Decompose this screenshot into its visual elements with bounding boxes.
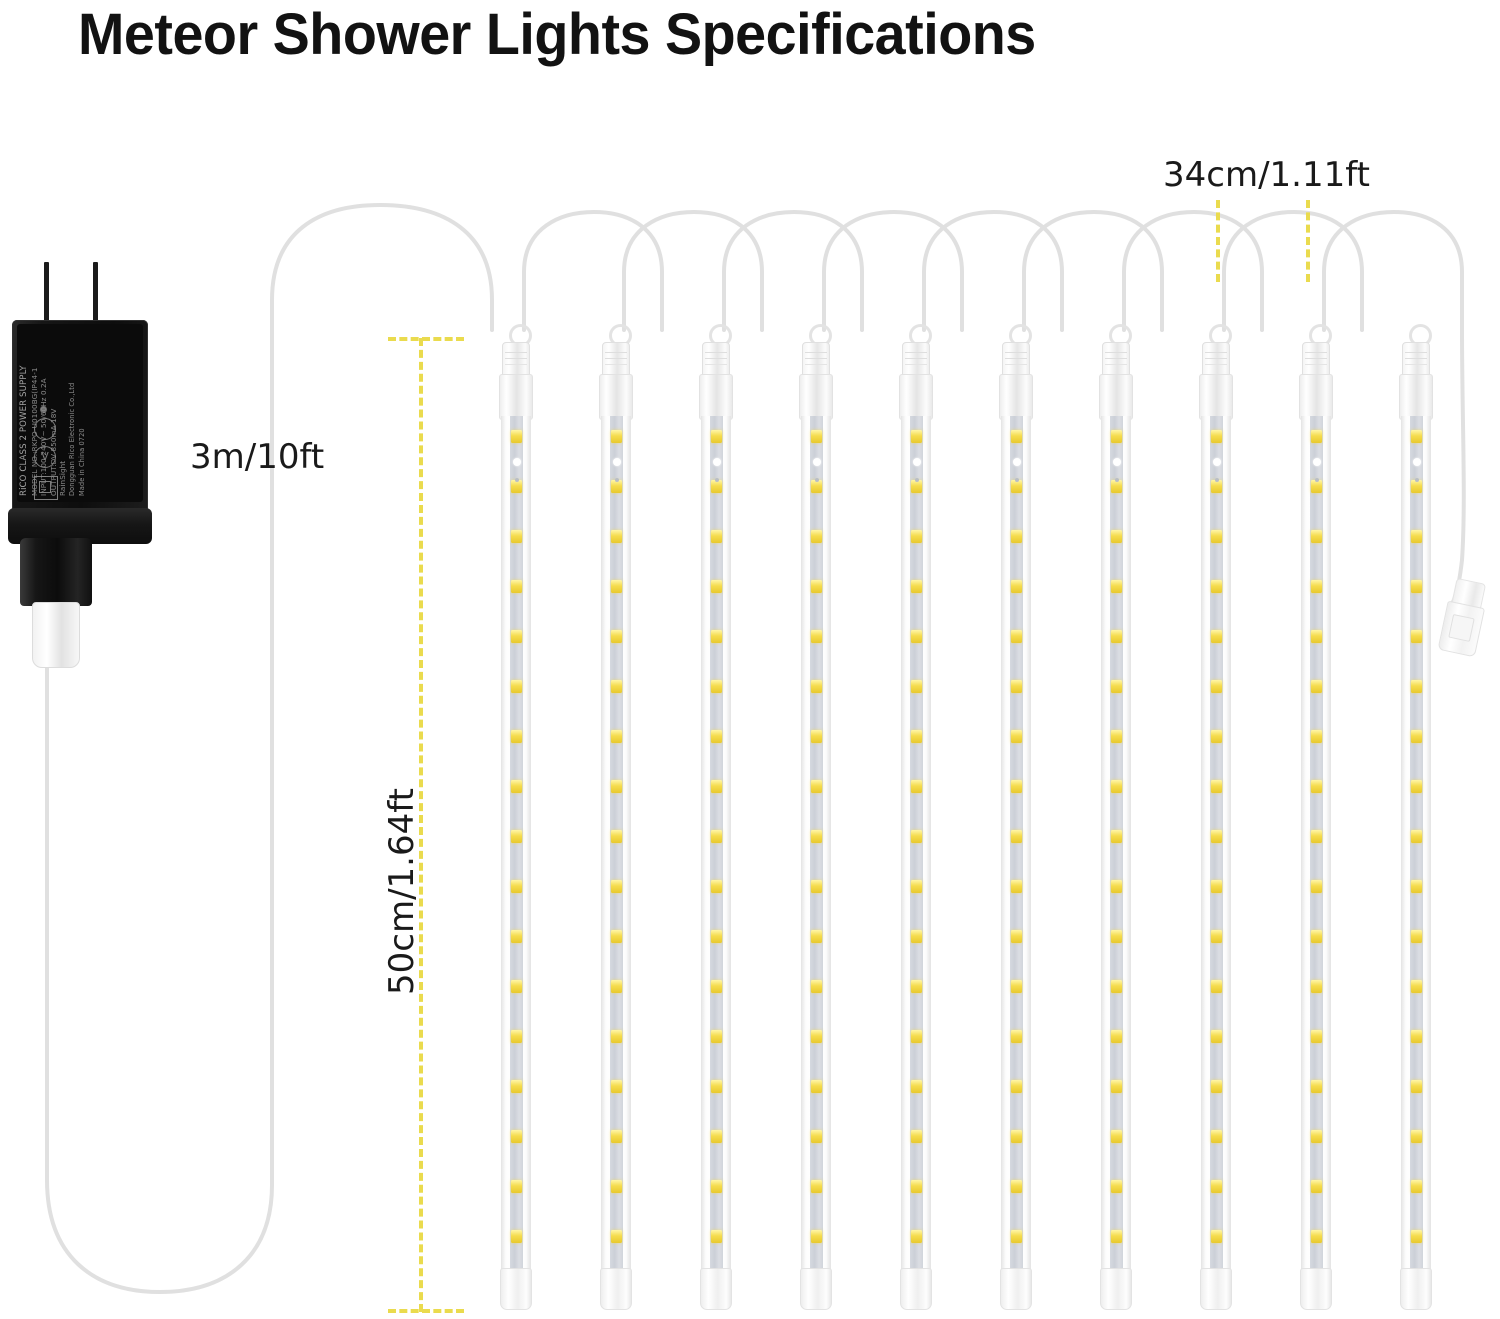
- led-dim-dot: [1015, 478, 1019, 482]
- tube-collar: [702, 342, 730, 378]
- adapter-housing: V ☒ UL LISTED 6497P1L LED Class RiCO CLA…: [12, 320, 148, 512]
- led-chip: [1011, 630, 1022, 643]
- led-chip: [1011, 880, 1022, 893]
- led-chip: [811, 680, 822, 693]
- led-chip: [1311, 1080, 1322, 1093]
- wiring-diagram: [0, 0, 1500, 1319]
- led-chip: [711, 580, 722, 593]
- led-chip: [611, 980, 622, 993]
- led-chip: [1411, 580, 1422, 593]
- tube-neck: [799, 374, 833, 420]
- led-chip: [1111, 980, 1122, 993]
- led-chip: [511, 830, 522, 843]
- tube-collar: [602, 342, 630, 378]
- led-chip: [1011, 1130, 1022, 1143]
- tube-collar: [802, 342, 830, 378]
- led-chip: [1311, 1030, 1322, 1043]
- led-chip: [1211, 730, 1222, 743]
- led-chip: [611, 1130, 622, 1143]
- led-strip-pcb: [710, 416, 723, 1272]
- tube-end-cap: [700, 1268, 732, 1310]
- adapter-manufacturer: Dongguan Rico Electronic Co.,Ltd: [68, 320, 78, 496]
- led-chip: [911, 930, 922, 943]
- led-chip: [511, 730, 522, 743]
- adapter-barrel-connector: [20, 538, 92, 606]
- led-chip: [811, 1080, 822, 1093]
- tube-neck: [1199, 374, 1233, 420]
- adapter-output: OUTPUT:DV 850mA 18V: [49, 320, 59, 496]
- led-chip: [911, 1130, 922, 1143]
- led-chip: [511, 1130, 522, 1143]
- wire-tail: [1452, 330, 1464, 604]
- tube-end-cap: [1000, 1268, 1032, 1310]
- tube-end-cap: [800, 1268, 832, 1310]
- led-strip-pcb: [1210, 416, 1223, 1272]
- led-chip: [911, 1080, 922, 1093]
- led-dim-dot: [715, 478, 719, 482]
- led-chip: [511, 630, 522, 643]
- led-chip: [811, 580, 822, 593]
- tube-end-cap: [1300, 1268, 1332, 1310]
- led-chip: [711, 980, 722, 993]
- led-highlight: [913, 458, 921, 466]
- led-chip: [511, 530, 522, 543]
- led-chip: [1411, 1180, 1422, 1193]
- led-chip: [1111, 430, 1122, 443]
- led-chip: [811, 780, 822, 793]
- led-chip: [1211, 1080, 1222, 1093]
- led-chip: [1411, 980, 1422, 993]
- led-chip: [1311, 980, 1322, 993]
- led-chip: [611, 730, 622, 743]
- led-chip: [911, 1180, 922, 1193]
- led-chip: [1211, 630, 1222, 643]
- led-chip: [711, 680, 722, 693]
- led-highlight: [813, 458, 821, 466]
- led-chip: [811, 930, 822, 943]
- led-dim-dot: [1415, 478, 1419, 482]
- led-chip: [811, 630, 822, 643]
- tube-end-cap: [900, 1268, 932, 1310]
- led-chip: [1411, 1130, 1422, 1143]
- led-chip: [911, 1230, 922, 1243]
- led-chip: [1211, 980, 1222, 993]
- led-chip: [711, 530, 722, 543]
- led-chip: [811, 430, 822, 443]
- led-strip-pcb: [1310, 416, 1323, 1272]
- adapter-brand-line: RiCO CLASS 2 POWER SUPPLY: [20, 320, 30, 496]
- led-tube: [898, 340, 932, 1312]
- led-chip: [611, 1180, 622, 1193]
- tube-collar: [1002, 342, 1030, 378]
- led-chip: [511, 1030, 522, 1043]
- tube-neck: [999, 374, 1033, 420]
- tube-end-cap: [1400, 1268, 1432, 1310]
- led-chip: [1311, 630, 1322, 643]
- led-chip: [1411, 1230, 1422, 1243]
- led-chip: [1011, 580, 1022, 593]
- led-dim-dot: [1315, 478, 1319, 482]
- led-chip: [511, 780, 522, 793]
- led-chip: [1111, 1230, 1122, 1243]
- led-chip: [1311, 530, 1322, 543]
- led-strip-pcb: [1010, 416, 1023, 1272]
- tube-body: [1201, 416, 1231, 1272]
- led-chip: [1111, 630, 1122, 643]
- plug-prong-icon: [44, 262, 49, 324]
- led-chip: [1211, 680, 1222, 693]
- led-tube: [598, 340, 632, 1312]
- led-chip: [711, 930, 722, 943]
- led-chip: [811, 1130, 822, 1143]
- led-chip: [1411, 730, 1422, 743]
- specification-image: Meteor Shower Lights Specifications 3m/1…: [0, 0, 1500, 1319]
- tube-body: [501, 416, 531, 1272]
- led-chip: [1211, 580, 1222, 593]
- led-highlight: [1213, 458, 1221, 466]
- led-chip: [511, 430, 522, 443]
- led-highlight: [613, 458, 621, 466]
- led-dim-dot: [1215, 478, 1219, 482]
- led-strip-pcb: [1410, 416, 1423, 1272]
- led-chip: [1311, 1230, 1322, 1243]
- led-chip: [511, 680, 522, 693]
- led-chip: [1211, 930, 1222, 943]
- led-chip: [611, 580, 622, 593]
- led-chip: [511, 880, 522, 893]
- led-chip: [611, 780, 622, 793]
- tube-end-cap: [1100, 1268, 1132, 1310]
- led-chip: [611, 1230, 622, 1243]
- led-chip: [1011, 780, 1022, 793]
- led-chip: [811, 880, 822, 893]
- led-chip: [1211, 830, 1222, 843]
- led-tube: [1398, 340, 1432, 1312]
- led-chip: [911, 1030, 922, 1043]
- led-chip: [711, 880, 722, 893]
- led-chip: [1111, 830, 1122, 843]
- led-chip: [711, 1130, 722, 1143]
- led-tube: [1198, 340, 1232, 1312]
- led-tube: [798, 340, 832, 1312]
- cord-length-label: 3m/10ft: [190, 437, 324, 477]
- tube-end-cap: [600, 1268, 632, 1310]
- led-chip: [1411, 430, 1422, 443]
- tube-collar: [902, 342, 930, 378]
- spacing-guide-left: [1216, 200, 1220, 282]
- tube-body: [601, 416, 631, 1272]
- led-chip: [511, 930, 522, 943]
- tube-body: [901, 416, 931, 1272]
- led-chip: [1111, 780, 1122, 793]
- tube-spacing-label: 34cm/1.11ft: [1163, 155, 1370, 195]
- tube-end-cap: [1200, 1268, 1232, 1310]
- led-chip: [1411, 830, 1422, 843]
- led-dim-dot: [515, 478, 519, 482]
- led-chip: [811, 1030, 822, 1043]
- led-chip: [711, 1230, 722, 1243]
- led-chip: [1411, 680, 1422, 693]
- led-chip: [1111, 730, 1122, 743]
- led-dim-dot: [915, 478, 919, 482]
- led-chip: [1311, 1130, 1322, 1143]
- adapter-class: CLASS 2 POWER SUPPLY: [19, 365, 29, 471]
- led-chip: [811, 830, 822, 843]
- tube-body: [1001, 416, 1031, 1272]
- led-chip: [1011, 980, 1022, 993]
- led-dim-dot: [815, 478, 819, 482]
- led-chip: [911, 430, 922, 443]
- led-strip-pcb: [510, 416, 523, 1272]
- led-chip: [1211, 1230, 1222, 1243]
- led-chip: [1011, 1030, 1022, 1043]
- led-tube: [698, 340, 732, 1312]
- led-chip: [1211, 530, 1222, 543]
- led-chip: [711, 830, 722, 843]
- led-chip: [611, 1080, 622, 1093]
- led-chip: [1111, 530, 1122, 543]
- tube-length-guide-tick-top: [388, 337, 464, 341]
- led-chip: [611, 1030, 622, 1043]
- led-chip: [1311, 1180, 1322, 1193]
- led-chip: [1011, 1080, 1022, 1093]
- led-chip: [611, 680, 622, 693]
- tube-body: [1401, 416, 1431, 1272]
- led-chip: [1411, 780, 1422, 793]
- led-chip: [1311, 430, 1322, 443]
- led-chip: [1311, 730, 1322, 743]
- led-highlight: [513, 458, 521, 466]
- led-chip: [1111, 880, 1122, 893]
- tube-body: [1301, 416, 1331, 1272]
- tube-length-label: 50cm/1.64ft: [382, 788, 422, 995]
- tube-collar: [1202, 342, 1230, 378]
- led-chip: [1011, 430, 1022, 443]
- led-chip: [1211, 1030, 1222, 1043]
- led-chip: [1311, 830, 1322, 843]
- adapter-output-plug: [32, 602, 80, 668]
- led-chip: [911, 630, 922, 643]
- tube-collar: [1102, 342, 1130, 378]
- led-highlight: [1313, 458, 1321, 466]
- led-chip: [1411, 930, 1422, 943]
- led-chip: [1411, 630, 1422, 643]
- led-strip-pcb: [1110, 416, 1123, 1272]
- led-chip: [911, 780, 922, 793]
- led-chip: [611, 530, 622, 543]
- led-chip: [1211, 1180, 1222, 1193]
- led-tube: [1098, 340, 1132, 1312]
- led-chip: [711, 1030, 722, 1043]
- adapter-brand: RiCO: [19, 474, 29, 496]
- led-chip: [711, 1080, 722, 1093]
- led-chip: [911, 880, 922, 893]
- led-chip: [911, 580, 922, 593]
- led-chip: [1311, 580, 1322, 593]
- led-chip: [711, 1180, 722, 1193]
- led-chip: [911, 980, 922, 993]
- led-chip: [711, 430, 722, 443]
- tube-body: [801, 416, 831, 1272]
- tube-collar: [1302, 342, 1330, 378]
- led-highlight: [713, 458, 721, 466]
- led-chip: [711, 780, 722, 793]
- led-chip: [911, 530, 922, 543]
- led-highlight: [1413, 458, 1421, 466]
- led-chip: [611, 630, 622, 643]
- led-chip: [1111, 1080, 1122, 1093]
- led-chip: [1411, 1030, 1422, 1043]
- led-tube: [498, 340, 532, 1312]
- tube-body: [1101, 416, 1131, 1272]
- led-chip: [511, 580, 522, 593]
- led-dim-dot: [615, 478, 619, 482]
- led-strip-pcb: [810, 416, 823, 1272]
- tube-collar: [502, 342, 530, 378]
- led-chip: [1011, 930, 1022, 943]
- tube-neck: [1299, 374, 1333, 420]
- tube-neck: [1099, 374, 1133, 420]
- led-chip: [1011, 1230, 1022, 1243]
- led-chip: [1011, 530, 1022, 543]
- led-chip: [1211, 430, 1222, 443]
- led-chip: [611, 880, 622, 893]
- adapter-label-text: RiCO CLASS 2 POWER SUPPLY MODEL NO.:RKPO…: [20, 320, 146, 496]
- led-chip: [811, 530, 822, 543]
- tube-neck: [1399, 374, 1433, 420]
- led-chip: [1111, 1180, 1122, 1193]
- led-chip: [1211, 780, 1222, 793]
- tube-neck: [599, 374, 633, 420]
- led-chip: [1311, 880, 1322, 893]
- led-chip: [611, 430, 622, 443]
- tube-neck: [899, 374, 933, 420]
- led-chip: [1311, 780, 1322, 793]
- led-chip: [811, 1180, 822, 1193]
- led-chip: [511, 980, 522, 993]
- led-chip: [511, 1230, 522, 1243]
- led-chip: [1011, 730, 1022, 743]
- led-chip: [511, 1080, 522, 1093]
- plug-prong-icon: [93, 262, 98, 324]
- led-chip: [1311, 930, 1322, 943]
- led-chip: [1011, 680, 1022, 693]
- led-tube: [998, 340, 1032, 1312]
- tube-length-guide-tick-bottom: [388, 1309, 464, 1313]
- led-strip-pcb: [910, 416, 923, 1272]
- led-strip-pcb: [610, 416, 623, 1272]
- led-tube: [1298, 340, 1332, 1312]
- led-chip: [1111, 1030, 1122, 1043]
- led-chip: [1111, 680, 1122, 693]
- led-chip: [711, 730, 722, 743]
- led-chip: [1111, 580, 1122, 593]
- led-chip: [1411, 1080, 1422, 1093]
- led-chip: [1111, 1130, 1122, 1143]
- led-chip: [611, 930, 622, 943]
- tube-neck: [699, 374, 733, 420]
- led-chip: [711, 630, 722, 643]
- adapter-origin: Made in China 0720: [78, 320, 88, 496]
- led-chip: [1411, 530, 1422, 543]
- led-chip: [811, 730, 822, 743]
- led-chip: [1011, 830, 1022, 843]
- adapter-input: INPUT:100-240V~ 50/60Hz 0.2A: [39, 320, 49, 496]
- adapter-model: MODEL NO.:RKPO-U0100BG(IP44-1: [30, 320, 40, 496]
- led-dim-dot: [1115, 478, 1119, 482]
- led-chip: [1211, 1130, 1222, 1143]
- led-chip: [811, 1230, 822, 1243]
- led-chip: [911, 730, 922, 743]
- led-chip: [1111, 930, 1122, 943]
- led-highlight: [1013, 458, 1021, 466]
- tube-collar: [1402, 342, 1430, 378]
- led-chip: [811, 980, 822, 993]
- adapter-subbrand: RainSight: [58, 320, 68, 496]
- led-chip: [611, 830, 622, 843]
- tube-neck: [499, 374, 533, 420]
- spacing-guide-right: [1306, 200, 1310, 282]
- led-chip: [1311, 680, 1322, 693]
- led-chip: [911, 830, 922, 843]
- tube-body: [701, 416, 731, 1272]
- led-chip: [1411, 880, 1422, 893]
- led-chip: [1011, 1180, 1022, 1193]
- led-chip: [911, 680, 922, 693]
- led-highlight: [1113, 458, 1121, 466]
- led-chip: [511, 1180, 522, 1193]
- tube-end-cap: [500, 1268, 532, 1310]
- led-chip: [1211, 880, 1222, 893]
